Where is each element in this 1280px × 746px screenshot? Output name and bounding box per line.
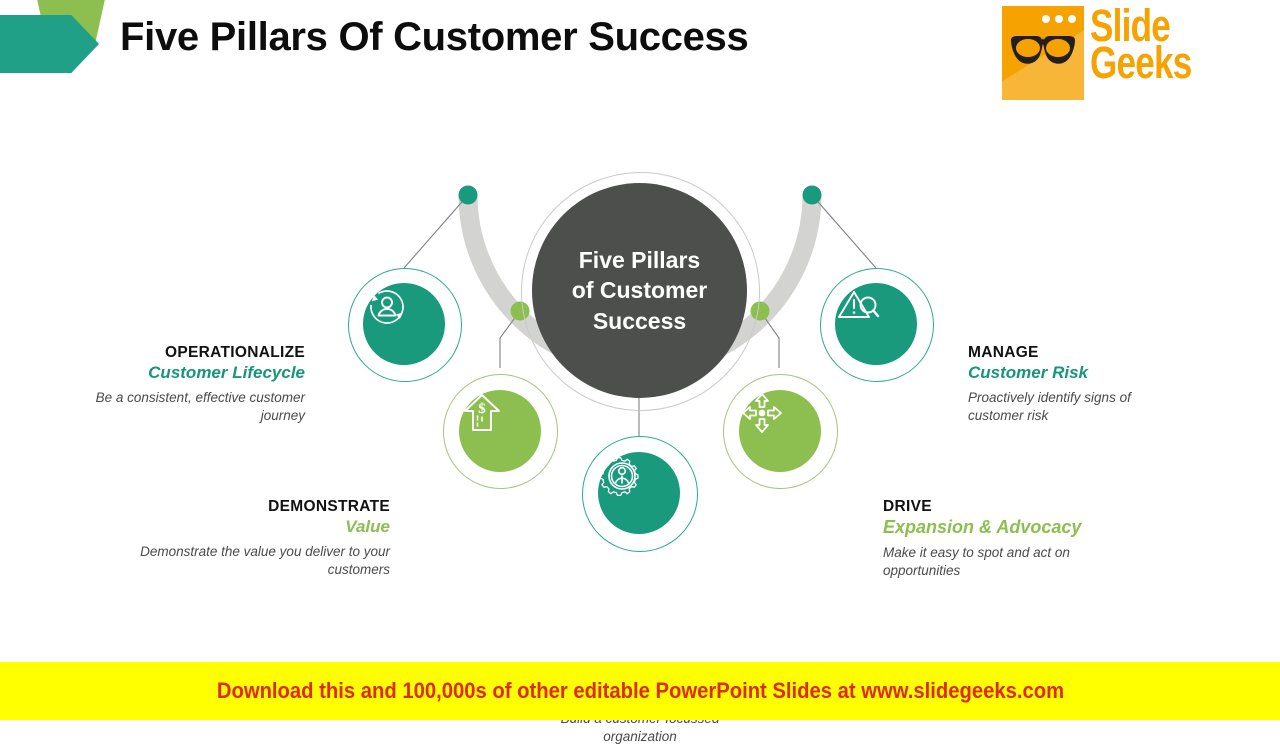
logo-wordmark: Slide Geeks bbox=[1090, 8, 1176, 82]
arc-dot-operationalize bbox=[459, 186, 478, 205]
label-demonstrate: DEMONSTRATE Value Demonstrate the value … bbox=[140, 498, 390, 579]
node-manage[interactable] bbox=[835, 283, 917, 365]
hub-line-2: of Customer bbox=[572, 275, 707, 306]
gear-person-icon bbox=[598, 452, 646, 500]
four-way-arrows-icon bbox=[739, 390, 785, 436]
label-kicker-drive: DRIVE bbox=[883, 498, 1173, 516]
label-desc-operationalize: Be a consistent, effective customer jour… bbox=[55, 389, 305, 425]
label-operationalize: OPERATIONALIZE Customer Lifecycle Be a c… bbox=[55, 344, 305, 425]
label-kicker-operationalize: OPERATIONALIZE bbox=[55, 344, 305, 362]
hub-line-1: Five Pillars bbox=[572, 245, 707, 276]
label-kicker-manage: MANAGE bbox=[968, 344, 1218, 362]
label-desc-drive: Make it easy to spot and act on opportun… bbox=[883, 544, 1093, 580]
connector-manage bbox=[812, 195, 876, 268]
five-pillars-diagram: Five Pillars of Customer Success OPERATI… bbox=[0, 86, 1280, 646]
arc-dot-manage bbox=[803, 186, 822, 205]
label-headline-manage: Customer Risk bbox=[968, 363, 1218, 383]
download-banner[interactable]: Download this and 100,000s of other edit… bbox=[0, 662, 1280, 720]
label-desc-manage: Proactively identify signs of customer r… bbox=[968, 389, 1168, 425]
user-lifecycle-icon bbox=[363, 283, 411, 331]
node-demonstrate[interactable]: $ bbox=[459, 390, 541, 472]
label-headline-demonstrate: Value bbox=[140, 517, 390, 537]
warning-magnifier-icon bbox=[835, 283, 883, 331]
dollar-arrow-up-icon: $ bbox=[459, 390, 505, 436]
node-operationalize[interactable] bbox=[363, 283, 445, 365]
download-banner-text: Download this and 100,000s of other edit… bbox=[216, 678, 1063, 704]
label-manage: MANAGE Customer Risk Proactively identif… bbox=[968, 344, 1218, 425]
hub-circle: Five Pillars of Customer Success bbox=[532, 183, 747, 398]
label-headline-drive: Expansion & Advocacy bbox=[883, 517, 1173, 538]
node-enable[interactable] bbox=[598, 452, 680, 534]
label-desc-demonstrate: Demonstrate the value you deliver to you… bbox=[140, 543, 390, 579]
label-headline-operationalize: Customer Lifecycle bbox=[55, 363, 305, 383]
page-title: Five Pillars Of Customer Success bbox=[120, 15, 748, 60]
hub-line-3: Success bbox=[572, 306, 707, 337]
node-drive[interactable] bbox=[739, 390, 821, 472]
logo-dots bbox=[1042, 15, 1076, 23]
connector-operationalize bbox=[404, 195, 468, 268]
logo-line-2: Geeks bbox=[1090, 45, 1176, 82]
label-drive: DRIVE Expansion & Advocacy Make it easy … bbox=[883, 498, 1173, 580]
slide-canvas: Five Pillars Of Customer Success Slide G… bbox=[0, 0, 1280, 720]
glasses-icon bbox=[1008, 34, 1078, 73]
svg-text:$: $ bbox=[478, 401, 486, 417]
hub-text: Five Pillars of Customer Success bbox=[572, 245, 707, 337]
label-kicker-demonstrate: DEMONSTRATE bbox=[140, 498, 390, 516]
